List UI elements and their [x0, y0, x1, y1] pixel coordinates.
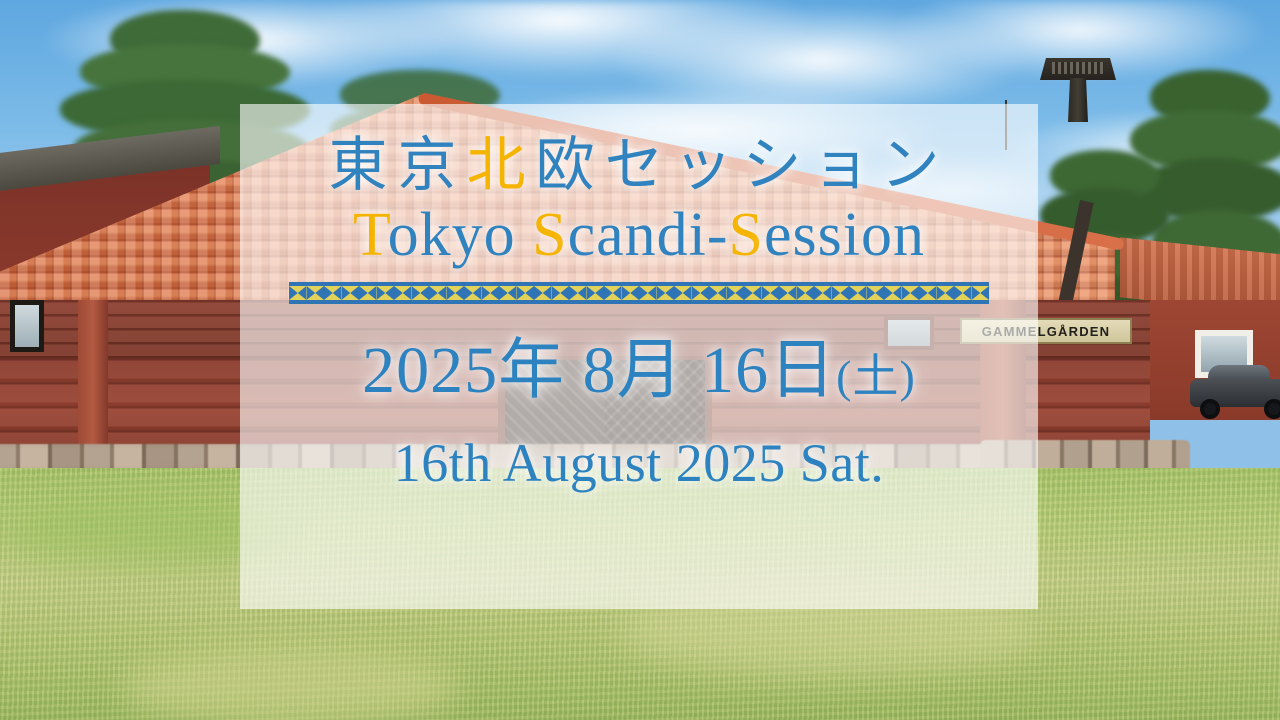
divider-motif	[464, 286, 482, 300]
divider-motif	[517, 286, 535, 300]
divider-motif	[622, 286, 640, 300]
divider-motif	[569, 286, 587, 300]
divider-motif	[552, 286, 570, 300]
title-en-segment-1: okyo	[388, 201, 533, 269]
divider-motif	[324, 286, 342, 300]
divider-motif	[902, 286, 920, 300]
divider-motif	[359, 286, 377, 300]
divider-motif	[342, 286, 360, 300]
poster-text-block: 東京北欧セッション Tokyo Scandi-Session 2025年 8月 …	[240, 104, 1038, 609]
divider-motif	[832, 286, 850, 300]
divider-motif	[849, 286, 867, 300]
title-en-segment-5: ession	[764, 201, 925, 269]
divider-motif	[937, 286, 955, 300]
divider-motif	[657, 286, 675, 300]
divider-motif	[587, 286, 605, 300]
divider-motif	[674, 286, 692, 300]
divider-motif	[744, 286, 762, 300]
date-jp-year: 2025年	[362, 334, 565, 407]
date-jp-month: 8月	[583, 334, 684, 407]
title-en-segment-0: T	[353, 201, 388, 269]
title-jp-segment-2: 欧セッション	[536, 130, 950, 199]
bell-cupola	[1040, 58, 1116, 120]
divider-motif	[762, 286, 780, 300]
page-title-english: Tokyo Scandi-Session	[353, 204, 925, 266]
divider-motif	[919, 286, 937, 300]
title-jp-segment-0: 東京	[328, 130, 466, 199]
divider-motif	[884, 286, 902, 300]
decorative-divider	[289, 282, 989, 304]
divider-motif	[429, 286, 447, 300]
divider-motif	[499, 286, 517, 300]
divider-motif	[447, 286, 465, 300]
divider-motif	[727, 286, 745, 300]
divider-motif	[377, 286, 395, 300]
event-date-english: 16th August 2025 Sat.	[394, 436, 885, 490]
event-date-japanese: 2025年 8月 16日(土)	[362, 338, 916, 404]
title-en-segment-2: S	[532, 201, 567, 269]
page-title-japanese: 東京北欧セッション	[328, 134, 949, 196]
title-jp-segment-1: 北	[466, 130, 535, 199]
divider-motif	[709, 286, 727, 300]
divider-motif	[692, 286, 710, 300]
divider-motif	[289, 286, 307, 300]
parked-car	[1190, 365, 1280, 413]
date-jp-weekday: (土)	[836, 351, 916, 402]
divider-motif	[639, 286, 657, 300]
date-jp-day: 16日	[701, 334, 836, 407]
divider-motif	[954, 286, 972, 300]
divider-motif	[604, 286, 622, 300]
divider-motif	[797, 286, 815, 300]
divider-motif	[412, 286, 430, 300]
divider-motif	[482, 286, 500, 300]
divider-motif	[394, 286, 412, 300]
divider-motif	[307, 286, 325, 300]
title-en-segment-3: candi-	[568, 201, 729, 269]
title-en-segment-4: S	[728, 201, 763, 269]
divider-motif	[779, 286, 797, 300]
poster-canvas: GAMMELGÅRDEN 東京北欧セッション Tokyo Scandi-Sess…	[0, 0, 1280, 720]
barn-window-left	[10, 300, 44, 352]
divider-motif-row	[289, 286, 989, 300]
divider-motif	[814, 286, 832, 300]
divider-motif	[867, 286, 885, 300]
divider-motif	[972, 286, 990, 300]
divider-motif	[534, 286, 552, 300]
